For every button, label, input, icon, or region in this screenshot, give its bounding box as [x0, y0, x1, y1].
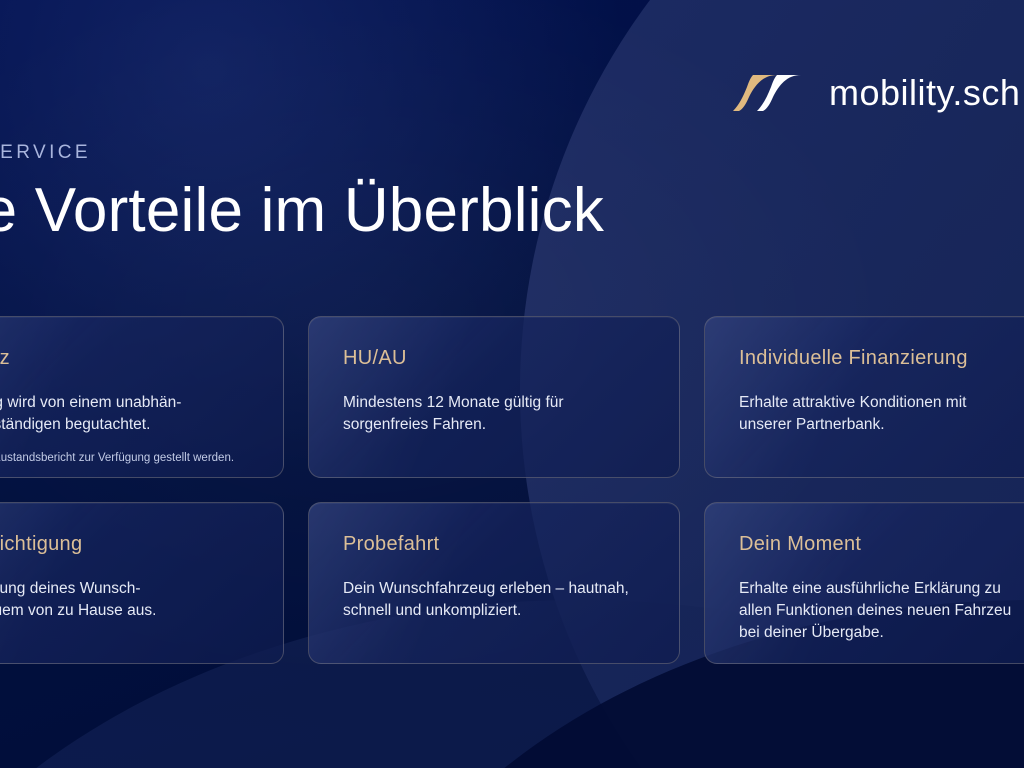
benefit-card-body: Erhalte eine ausführliche Erklärung zu a…	[739, 578, 1024, 644]
benefit-card-body: Erhalte attraktive Konditionen mit unser…	[739, 392, 1024, 436]
benefit-card-body: ahrzeug wird von einem unabhän- achverst…	[0, 392, 249, 436]
benefit-card[interactable]: parenz ahrzeug wird von einem unabhän- a…	[0, 316, 284, 478]
benefit-card-title: parenz	[0, 347, 249, 370]
benefit-card[interactable]: e Besichtigung esichtigung deines Wunsch…	[0, 502, 284, 664]
benefit-card-title: Probefahrt	[343, 533, 645, 556]
benefit-card-title: e Besichtigung	[0, 533, 249, 556]
eyebrow-label: UM-SERVICE	[0, 142, 604, 164]
marketing-slide: mobility.sch UM-SERVICE ine Vorteile im …	[0, 0, 1024, 768]
benefit-card[interactable]: Dein Moment Erhalte eine ausführliche Er…	[704, 502, 1024, 664]
benefit-card[interactable]: Probefahrt Dein Wunschfahrzeug erleben –…	[308, 502, 680, 664]
benefit-card[interactable]: HU/AU Mindestens 12 Monate gültig für so…	[308, 316, 680, 478]
benefit-card-body: Dein Wunschfahrzeug erleben – hautnah, s…	[343, 578, 645, 622]
benefit-card-title: HU/AU	[343, 347, 645, 370]
page-title: ine Vorteile im Überblick	[0, 178, 604, 243]
benefit-card[interactable]: Individuelle Finanzierung Erhalte attrak…	[704, 316, 1024, 478]
benefit-card-title: Dein Moment	[739, 533, 1024, 556]
benefit-card-body: esichtigung deines Wunsch- gs bequem von…	[0, 578, 249, 622]
benefit-card-title: Individuelle Finanzierung	[739, 347, 1024, 370]
mobility-swoosh-logo-icon	[733, 73, 807, 113]
benefit-card-body: Mindestens 12 Monate gültig für sorgenfr…	[343, 392, 645, 436]
brand-logo-text: mobility.sch	[829, 72, 1020, 114]
benefit-card-note: kann ein Zustandsbericht zur Verfügung g…	[0, 450, 249, 466]
headline-block: UM-SERVICE ine Vorteile im Überblick	[0, 142, 604, 243]
brand-logo: mobility.sch	[733, 72, 1020, 114]
benefits-card-grid: parenz ahrzeug wird von einem unabhän- a…	[0, 316, 1024, 664]
